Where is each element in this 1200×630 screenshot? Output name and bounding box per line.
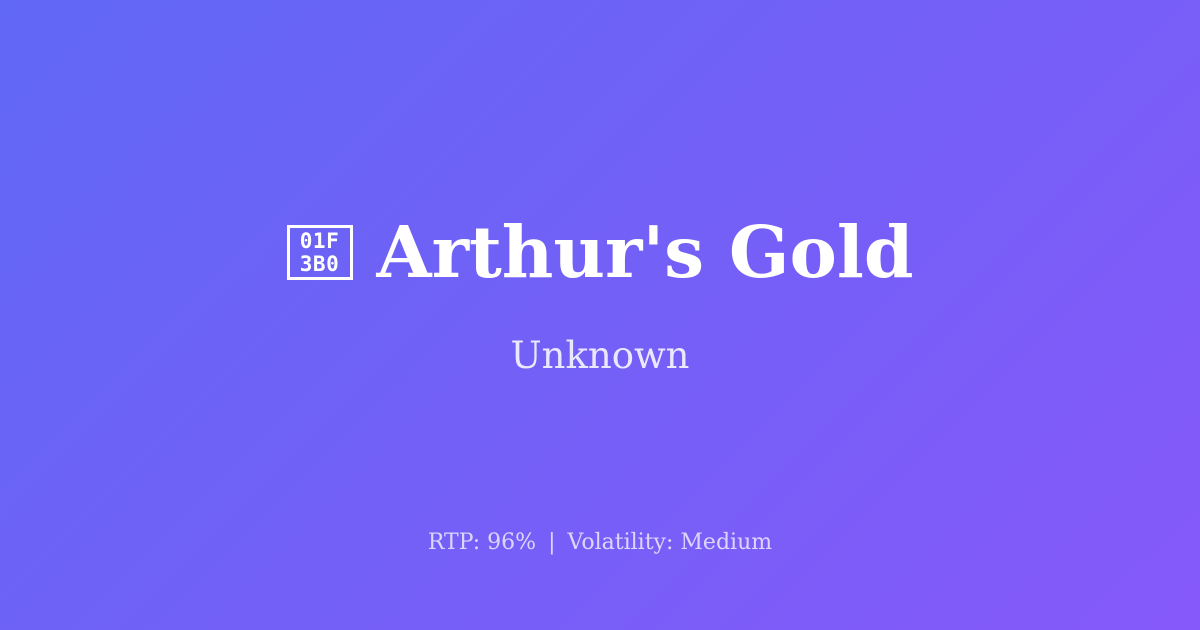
slot-machine-icon-codepoint-top: 01F bbox=[300, 230, 339, 253]
game-title: Arthur's Gold bbox=[377, 217, 914, 288]
og-preview-card: 01F 3B0 Arthur's Gold Unknown RTP: 96% |… bbox=[0, 0, 1200, 630]
slot-machine-icon: 01F 3B0 bbox=[287, 225, 353, 280]
hero-group: 01F 3B0 Arthur's Gold Unknown bbox=[0, 217, 1200, 378]
title-row: 01F 3B0 Arthur's Gold bbox=[287, 217, 914, 288]
slot-machine-icon-codepoint-bottom: 3B0 bbox=[300, 253, 339, 276]
rtp-label: RTP: bbox=[428, 530, 480, 555]
game-provider-subtitle: Unknown bbox=[510, 334, 689, 378]
volatility-value: Medium bbox=[680, 530, 772, 555]
meta-separator: | bbox=[543, 530, 560, 555]
volatility-label: Volatility: bbox=[568, 530, 674, 555]
rtp-value: 96% bbox=[487, 530, 536, 555]
game-meta-line: RTP: 96% | Volatility: Medium bbox=[0, 529, 1200, 558]
